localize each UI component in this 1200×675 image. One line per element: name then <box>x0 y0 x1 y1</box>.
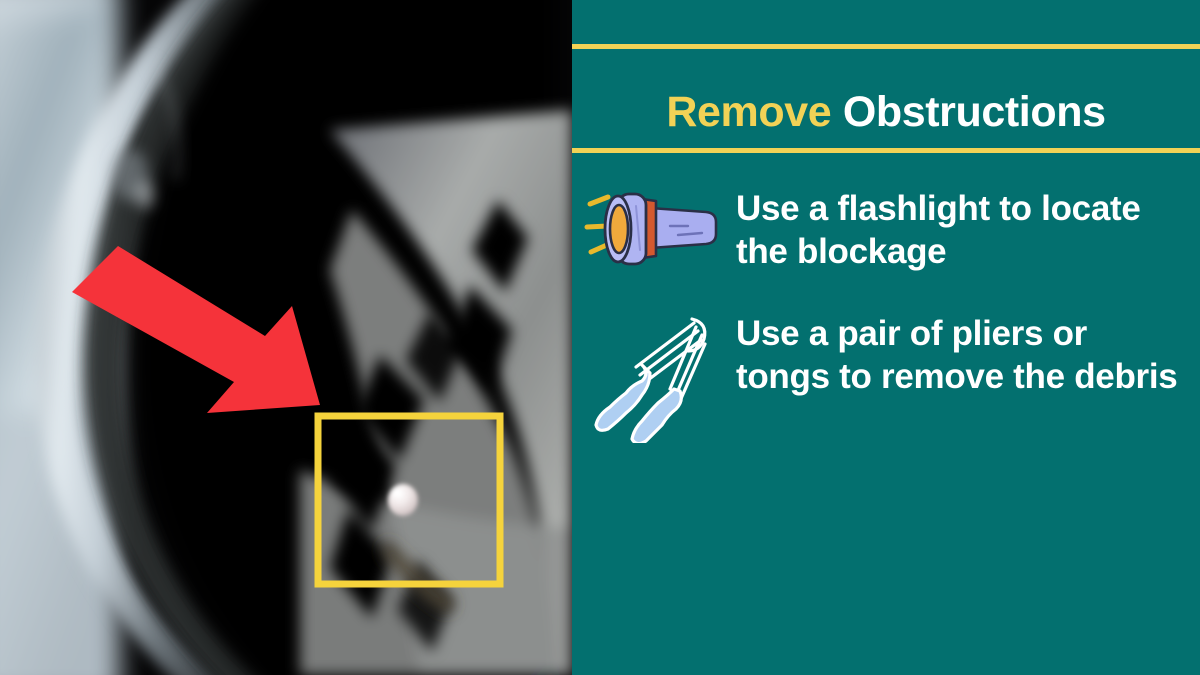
title-rule-top <box>572 44 1200 49</box>
dishwasher-photo <box>0 0 572 675</box>
photo-illustration <box>0 0 572 675</box>
bead-obstruction <box>388 484 418 516</box>
list-item: Use a flashlight to locate the blockage <box>584 186 1182 273</box>
flashlight-icon <box>584 186 724 272</box>
list-item: Use a pair of pliers or tongs to remove … <box>584 311 1182 443</box>
bullet-list: Use a flashlight to locate the blockage <box>572 186 1200 443</box>
slide-root: Remove Obstructions <box>0 0 1200 675</box>
tongs-icon <box>584 311 724 443</box>
list-item-label: Use a flashlight to locate the blockage <box>736 186 1182 273</box>
title-rule-bottom <box>572 148 1200 153</box>
content-panel: Remove Obstructions <box>572 0 1200 675</box>
page-title: Remove Obstructions <box>572 91 1200 134</box>
list-item-label: Use a pair of pliers or tongs to remove … <box>736 311 1182 398</box>
page-title-rest: Obstructions <box>831 88 1105 136</box>
page-title-highlight: Remove <box>666 88 831 136</box>
